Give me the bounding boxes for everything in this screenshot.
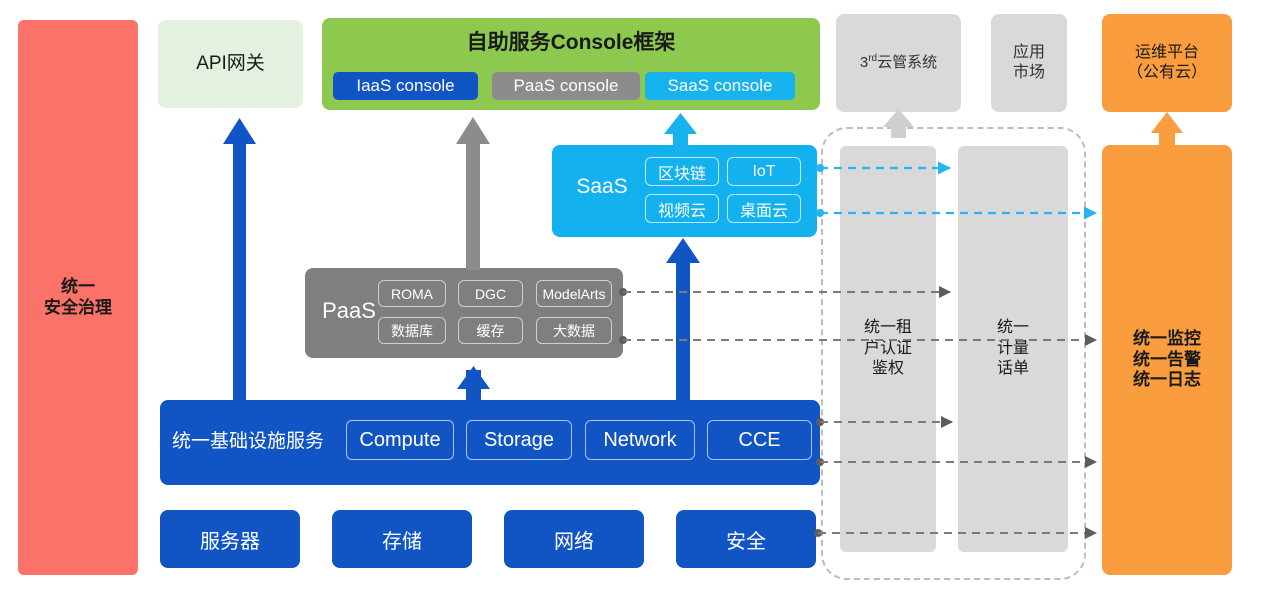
- ops-monitoring-panel[interactable]: 统一监控 统一告警 统一日志: [1102, 145, 1232, 575]
- security-governance-panel[interactable]: 统一 安全治理: [18, 20, 138, 575]
- app-market-box[interactable]: 应用 市场: [991, 14, 1067, 112]
- paas-service-dgc[interactable]: DGC: [458, 280, 523, 307]
- auth-line2: 户认证: [864, 339, 912, 360]
- hardware-server[interactable]: 服务器: [160, 510, 300, 568]
- paas-console-pill[interactable]: PaaS console: [492, 72, 640, 100]
- app-market-line1: 应用: [1013, 43, 1045, 63]
- security-label-line2: 安全治理: [44, 298, 112, 319]
- paas-label: PaaS: [313, 298, 385, 324]
- hardware-network[interactable]: 网络: [504, 510, 644, 568]
- paas-service-modelarts[interactable]: ModelArts: [536, 280, 612, 307]
- api-gateway-label: API网关: [196, 52, 265, 75]
- third-party-label: 3rd云管系统: [860, 53, 937, 72]
- arrow-iaas-to-paas: [457, 366, 490, 402]
- ops-panel-line3: 统一日志: [1133, 370, 1201, 391]
- iaas-service-network[interactable]: Network: [585, 420, 695, 460]
- hardware-storage[interactable]: 存储: [332, 510, 472, 568]
- paas-service-cache[interactable]: 缓存: [458, 317, 523, 344]
- ops-top-line1: 运维平台: [1127, 43, 1207, 63]
- third-party-suffix: 云管系统: [877, 54, 937, 71]
- auth-line3: 鉴权: [864, 359, 912, 380]
- third-party-cloud-mgmt-box[interactable]: 3rd云管系统: [836, 14, 961, 112]
- hardware-security[interactable]: 安全: [676, 510, 816, 568]
- iaas-service-compute[interactable]: Compute: [346, 420, 454, 460]
- third-party-prefix: 3: [860, 54, 868, 71]
- saas-label: SaaS: [562, 175, 642, 199]
- metering-line3: 话单: [997, 359, 1029, 380]
- security-label-line1: 统一: [44, 277, 112, 298]
- app-market-line2: 市场: [1013, 63, 1045, 83]
- saas-service-video-cloud[interactable]: 视频云: [645, 194, 719, 223]
- paas-service-database[interactable]: 数据库: [378, 317, 446, 344]
- arrow-iaas-to-api-gateway: [223, 118, 256, 402]
- auth-line1: 统一租: [864, 318, 912, 339]
- ops-panel-line1: 统一监控: [1133, 329, 1201, 350]
- paas-service-roma[interactable]: ROMA: [378, 280, 446, 307]
- architecture-diagram: 统一 安全治理 API网关 自助服务Console框架 IaaS console…: [0, 0, 1265, 605]
- saas-service-blockchain[interactable]: 区块链: [645, 157, 719, 186]
- saas-service-iot[interactable]: IoT: [727, 157, 801, 186]
- saas-console-pill[interactable]: SaaS console: [645, 72, 795, 100]
- metering-line2: 计量: [997, 339, 1029, 360]
- api-gateway-box[interactable]: API网关: [158, 20, 303, 108]
- saas-service-desktop-cloud[interactable]: 桌面云: [727, 194, 801, 223]
- third-party-superscript: rd: [868, 53, 877, 64]
- console-framework-title: 自助服务Console框架: [322, 26, 820, 56]
- iaas-console-pill[interactable]: IaaS console: [333, 72, 478, 100]
- arrow-iaas-to-saas: [666, 238, 700, 403]
- unified-tenant-auth-column[interactable]: 统一租 户认证 鉴权: [840, 146, 936, 552]
- arrow-shared-to-ops-platform: [1151, 112, 1183, 146]
- iaas-service-cce[interactable]: CCE: [707, 420, 812, 460]
- ops-panel-line2: 统一告警: [1133, 350, 1201, 371]
- iaas-label: 统一基础设施服务: [172, 426, 342, 453]
- ops-top-line2: （公有云）: [1127, 63, 1207, 83]
- arrow-paas-to-console: [456, 117, 490, 270]
- iaas-service-storage[interactable]: Storage: [466, 420, 572, 460]
- metering-line1: 统一: [997, 318, 1029, 339]
- paas-service-bigdata[interactable]: 大数据: [536, 317, 612, 344]
- unified-metering-column[interactable]: 统一 计量 话单: [958, 146, 1068, 552]
- ops-platform-public-cloud-box[interactable]: 运维平台 （公有云）: [1102, 14, 1232, 112]
